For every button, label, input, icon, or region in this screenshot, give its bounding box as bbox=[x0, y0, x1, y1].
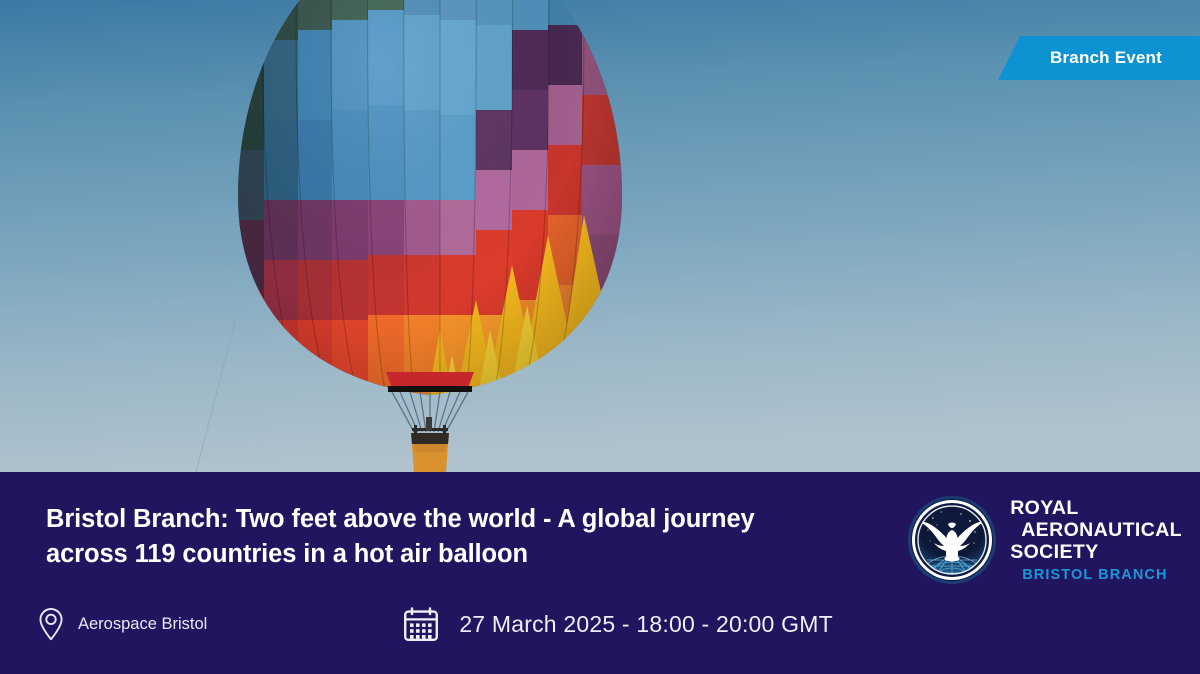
ribbon-label: Branch Event bbox=[1050, 48, 1162, 68]
venue-label: Aerospace Bristol bbox=[78, 615, 207, 634]
logo-branch-subtitle: BRISTOL BRANCH bbox=[1010, 567, 1182, 583]
logo-line-aeronautical: AERONAUTICAL bbox=[1010, 519, 1182, 541]
hero-image: Branch Event bbox=[0, 0, 1200, 472]
balloon-basket bbox=[411, 417, 449, 472]
event-promo-card: Branch Event Bristol Branch: Two feet ab… bbox=[0, 0, 1200, 674]
balloon-skirt bbox=[386, 372, 474, 392]
location-pin-icon bbox=[32, 602, 70, 646]
event-title: Bristol Branch: Two feet above the world… bbox=[46, 502, 806, 572]
branch-event-ribbon: Branch Event bbox=[998, 36, 1200, 80]
event-date: 27 March 2025 - 18:00 - 20:00 GMT bbox=[399, 602, 833, 646]
logo-line-society: SOCIETY bbox=[1010, 541, 1182, 563]
raes-logo-text: ROYAL AERONAUTICAL SOCIETY BRISTOL BRANC… bbox=[1010, 497, 1182, 584]
logo-line-royal: ROYAL bbox=[1010, 497, 1182, 519]
event-info-band: Bristol Branch: Two feet above the world… bbox=[0, 472, 1200, 674]
date-label: 27 March 2025 - 18:00 - 20:00 GMT bbox=[459, 611, 833, 638]
calendar-icon bbox=[399, 602, 443, 646]
event-meta-row: Aerospace Bristol bbox=[32, 602, 833, 646]
raes-logo: ROYAL AERONAUTICAL SOCIETY BRISTOL BRANC… bbox=[906, 494, 1182, 586]
raes-eagle-globe-emblem bbox=[906, 494, 998, 586]
event-venue: Aerospace Bristol bbox=[32, 602, 207, 646]
